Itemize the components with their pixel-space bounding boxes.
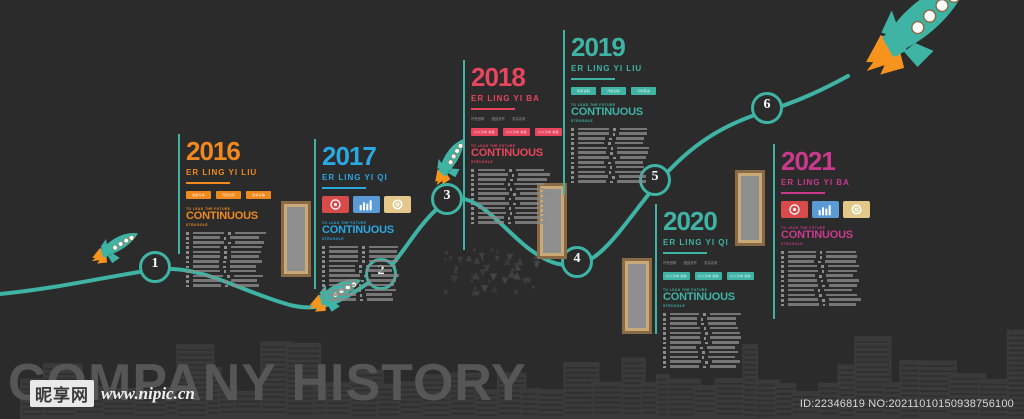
panel-body-line <box>322 284 418 287</box>
panel-body-line <box>571 161 667 164</box>
panel-body-text <box>322 246 418 302</box>
panel-body-line <box>663 336 759 339</box>
panel-body-line <box>571 166 667 169</box>
panel-body-text <box>663 313 759 369</box>
panel-body-line <box>663 327 759 330</box>
frame-inner <box>284 204 308 274</box>
panel-body-line <box>781 255 877 258</box>
panel-body-line <box>781 265 877 268</box>
panel-pinyin: ER LING YI BA <box>781 178 877 187</box>
year-panel-2018[interactable]: 2018ER LING YI BA开拓进取团结协作务实高效以人为本·诚信以人为本… <box>471 64 567 226</box>
panel-body-line <box>471 188 567 191</box>
panel-accent-line-2018 <box>463 60 465 250</box>
panel-year: 2021 <box>781 148 877 174</box>
year-panel-2017[interactable]: 2017ER LING YI QITO LEAD THE FUTURECONTI… <box>322 143 418 303</box>
panel-body-line <box>322 269 418 272</box>
panel-mini-label: 务实高效 <box>512 116 526 121</box>
panel-headline: CONTINUOUS <box>663 292 759 304</box>
panel-tag[interactable]: 追求卓越 <box>246 191 271 199</box>
panel-body-line <box>663 341 759 344</box>
panel-mini-label: 开拓进取 <box>471 116 485 121</box>
year-panel-2016[interactable]: 2016ER LING YI LIU诚信为本开拓创新追求卓越TO LEAD TH… <box>186 138 282 289</box>
watermark-badge: 昵享网 www.nipic.cn <box>30 380 195 407</box>
panel-pinyin: ER LING YI LIU <box>571 64 667 73</box>
target-icon[interactable] <box>781 201 808 218</box>
panel-tag[interactable]: 以人为本·诚信 <box>503 128 530 136</box>
panel-body-line <box>471 192 567 195</box>
panel-body-line <box>571 142 667 145</box>
panel-tag[interactable]: 开拓创新 <box>216 191 241 199</box>
panel-body-line <box>781 260 877 263</box>
panel-body-line <box>322 289 418 292</box>
panel-body-line <box>186 236 282 239</box>
panel-body-line <box>571 151 667 154</box>
panel-tag[interactable]: 开拓创新 <box>601 87 626 95</box>
photo-placeholder <box>628 264 646 328</box>
panel-body-line <box>781 284 877 287</box>
panel-body-line <box>471 183 567 186</box>
panel-mini-label: 务实高效 <box>704 260 718 265</box>
panel-body-line <box>186 260 282 263</box>
panel-body-line <box>322 279 418 282</box>
panel-tag-row: 以人为本·诚信以人为本·诚信以人为本·诚信 <box>471 128 567 136</box>
panel-body-line <box>571 180 667 183</box>
panel-body-line <box>781 289 877 292</box>
panel-mini-label: 团结协作 <box>684 260 698 265</box>
watermark-url: www.nipic.cn <box>101 384 195 404</box>
panel-rule <box>663 252 707 254</box>
panel-pinyin: ER LING YI QI <box>663 238 759 247</box>
panel-body-line <box>322 298 418 301</box>
photo-frame-3 <box>622 258 652 334</box>
panel-body-line <box>781 294 877 297</box>
panel-body-line <box>186 241 282 244</box>
panel-body-line <box>186 232 282 235</box>
gear-icon[interactable] <box>843 201 870 218</box>
panel-tag-row: 以人为本·诚信以人为本·诚信以人为本·诚信 <box>663 272 759 280</box>
panel-body-line <box>186 275 282 278</box>
panel-accent-line-2021 <box>773 144 775 319</box>
bar-chart-icon[interactable] <box>812 201 839 218</box>
panel-accent-line-2020 <box>655 204 657 334</box>
panel-year: 2017 <box>322 143 418 169</box>
panel-subheadline: STRUGGLE <box>663 304 759 308</box>
panel-tag[interactable]: 诚信为本 <box>186 191 211 199</box>
panel-rule <box>571 78 615 80</box>
panel-body-line <box>322 255 418 258</box>
target-icon[interactable] <box>322 196 349 213</box>
panel-body-text <box>781 251 877 307</box>
panel-body-line <box>571 175 667 178</box>
panel-icon-row <box>781 201 877 218</box>
panel-year: 2018 <box>471 64 567 90</box>
year-panel-2019[interactable]: 2019ER LING YI LIU锐意进取开拓创新与时俱进TO LEAD TH… <box>571 34 667 185</box>
year-panel-2021[interactable]: 2021ER LING YI BATO LEAD THE FUTURECONTI… <box>781 148 877 308</box>
panel-pinyin: ER LING YI BA <box>471 94 567 103</box>
panel-body-line <box>471 202 567 205</box>
panel-mini-label: 团结协作 <box>492 116 506 121</box>
panel-body-line <box>781 274 877 277</box>
year-panel-2020[interactable]: 2020ER LING YI QI开拓进取团结协作务实高效以人为本·诚信以人为本… <box>663 208 759 370</box>
panel-body-line <box>471 216 567 219</box>
panel-body-line <box>663 346 759 349</box>
panel-year: 2019 <box>571 34 667 60</box>
rocket-large <box>828 0 1008 111</box>
panel-body-line <box>571 137 667 140</box>
timeline-marker-6[interactable]: 6 <box>751 92 783 124</box>
panel-headline: CONTINUOUS <box>471 148 567 160</box>
panel-body-line <box>322 274 418 277</box>
panel-body-text <box>186 232 282 288</box>
panel-body-line <box>186 284 282 287</box>
panel-body-line <box>663 332 759 335</box>
panel-pinyin: ER LING YI QI <box>322 173 418 182</box>
panel-icon-row <box>322 196 418 213</box>
panel-body-text <box>571 128 667 184</box>
panel-body-line <box>471 173 567 176</box>
panel-year: 2016 <box>186 138 282 164</box>
photo-placeholder <box>287 207 305 271</box>
panel-headline: CONTINUOUS <box>186 211 282 223</box>
panel-rule <box>322 187 366 189</box>
panel-tag[interactable]: 以人为本·诚信 <box>535 128 562 136</box>
panel-headline: CONTINUOUS <box>781 230 877 242</box>
poster-canvas: 123456 2016ER LING <box>0 0 1024 419</box>
panel-body-line <box>322 265 418 268</box>
panel-body-line <box>186 255 282 258</box>
panel-body-line <box>781 270 877 273</box>
panel-tag[interactable]: 锐意进取 <box>571 87 596 95</box>
panel-subheadline: STRUGGLE <box>322 237 418 241</box>
panel-body-line <box>471 207 567 210</box>
panel-body-line <box>663 360 759 363</box>
panel-body-line <box>322 260 418 263</box>
panel-tag[interactable]: 以人为本·诚信 <box>663 272 690 280</box>
panel-body-line <box>186 270 282 273</box>
panel-subheadline: STRUGGLE <box>186 223 282 227</box>
gear-icon[interactable] <box>384 196 411 213</box>
panel-body-line <box>781 279 877 282</box>
watermark-cn-label: 昵享网 <box>30 380 94 407</box>
panel-tag[interactable]: 以人为本·诚信 <box>727 272 754 280</box>
panel-body-line <box>322 246 418 249</box>
panel-mini-label: 开拓进取 <box>663 260 677 265</box>
panel-rule <box>471 108 515 110</box>
panel-body-line <box>571 128 667 131</box>
panel-rule <box>781 192 825 194</box>
panel-body-text <box>471 169 567 225</box>
panel-mini-labels: 开拓进取团结协作务实高效 <box>471 116 567 121</box>
panel-subheadline: STRUGGLE <box>571 119 667 123</box>
panel-body-line <box>571 156 667 159</box>
bar-chart-icon[interactable] <box>353 196 380 213</box>
panel-pinyin: ER LING YI LIU <box>186 168 282 177</box>
frame-inner <box>625 261 649 331</box>
panel-body-line <box>186 279 282 282</box>
panel-body-line <box>781 298 877 301</box>
panel-body-line <box>471 178 567 181</box>
panel-accent-line-2019 <box>563 30 565 195</box>
panel-subheadline: STRUGGLE <box>781 242 877 246</box>
timeline-marker-3[interactable]: 3 <box>431 183 463 215</box>
panel-body-line <box>663 322 759 325</box>
panel-body-line <box>186 246 282 249</box>
panel-rule <box>186 182 230 184</box>
panel-body-line <box>571 171 667 174</box>
panel-body-line <box>571 132 667 135</box>
panel-body-line <box>471 212 567 215</box>
panel-body-line <box>322 293 418 296</box>
panel-body-line <box>571 147 667 150</box>
triangle-pattern <box>440 248 540 296</box>
panel-body-line <box>471 169 567 172</box>
panel-headline: CONTINUOUS <box>571 107 667 119</box>
panel-headline: CONTINUOUS <box>322 225 418 237</box>
panel-body-line <box>322 250 418 253</box>
photo-frame-1 <box>281 201 311 277</box>
panel-body-line <box>781 303 877 306</box>
panel-body-line <box>663 313 759 316</box>
panel-tag[interactable]: 与时俱进 <box>631 87 656 95</box>
panel-accent-line-2016 <box>178 134 180 254</box>
panel-subheadline: STRUGGLE <box>471 160 567 164</box>
panel-body-line <box>663 317 759 320</box>
panel-tag-row: 诚信为本开拓创新追求卓越 <box>186 191 282 199</box>
panel-body-line <box>663 365 759 368</box>
panel-body-line <box>471 197 567 200</box>
panel-body-line <box>186 251 282 254</box>
timeline-marker-1[interactable]: 1 <box>139 251 171 283</box>
panel-body-line <box>781 251 877 254</box>
panel-body-line <box>471 221 567 224</box>
panel-tag[interactable]: 以人为本·诚信 <box>471 128 498 136</box>
panel-body-line <box>663 351 759 354</box>
panel-tag[interactable]: 以人为本·诚信 <box>695 272 722 280</box>
panel-mini-labels: 开拓进取团结协作务实高效 <box>663 260 759 265</box>
panel-accent-line-2017 <box>314 139 316 289</box>
panel-body-line <box>663 356 759 359</box>
panel-year: 2020 <box>663 208 759 234</box>
panel-tag-row: 锐意进取开拓创新与时俱进 <box>571 87 667 95</box>
panel-body-line <box>186 265 282 268</box>
id-text: ID:22346819 NO:20211010150938756100 <box>800 398 1014 410</box>
